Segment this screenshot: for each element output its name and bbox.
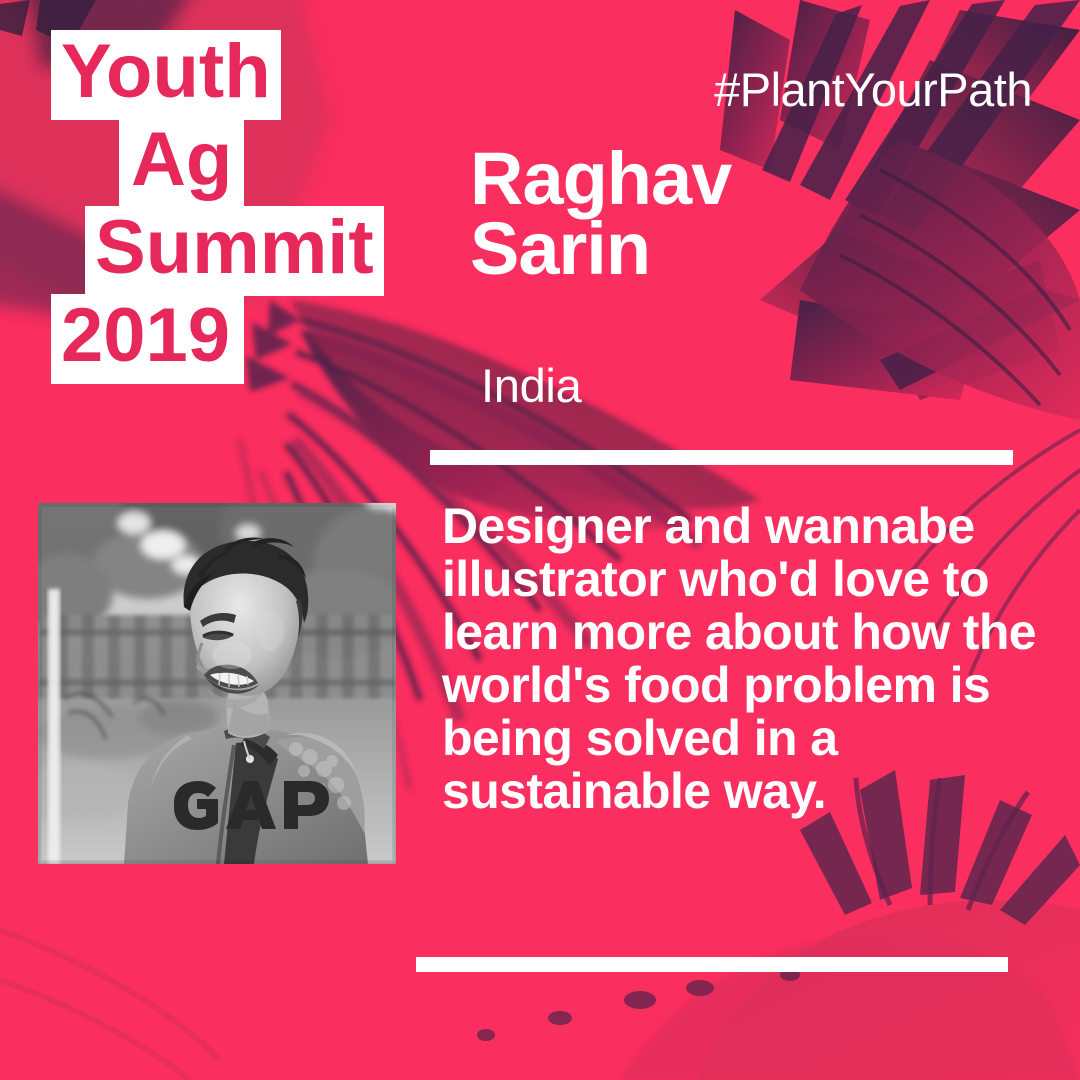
logo-line-youth: Youth — [51, 30, 281, 120]
delegate-last-name: Sarin — [470, 214, 1030, 284]
divider-bottom — [416, 957, 1008, 972]
campaign-hashtag: #PlantYourPath — [714, 62, 1032, 117]
delegate-photo — [38, 503, 396, 864]
youth-ag-summit-logo: Youth Ag Summit 2019 — [51, 30, 384, 384]
logo-line-ag: Ag — [119, 118, 244, 208]
delegate-first-name: Raghav — [470, 144, 1030, 214]
logo-line-year: 2019 — [51, 294, 244, 384]
logo-line-summit: Summit — [85, 206, 384, 296]
delegate-country: India — [481, 358, 581, 413]
delegate-name: Raghav Sarin — [470, 144, 1030, 285]
youth-ag-summit-delegate-card: Youth Ag Summit 2019 #PlantYourPath Ragh… — [0, 0, 1080, 1080]
delegate-bio: Designer and wannabe illustrator who'd l… — [442, 500, 1042, 818]
divider-top — [430, 450, 1013, 465]
